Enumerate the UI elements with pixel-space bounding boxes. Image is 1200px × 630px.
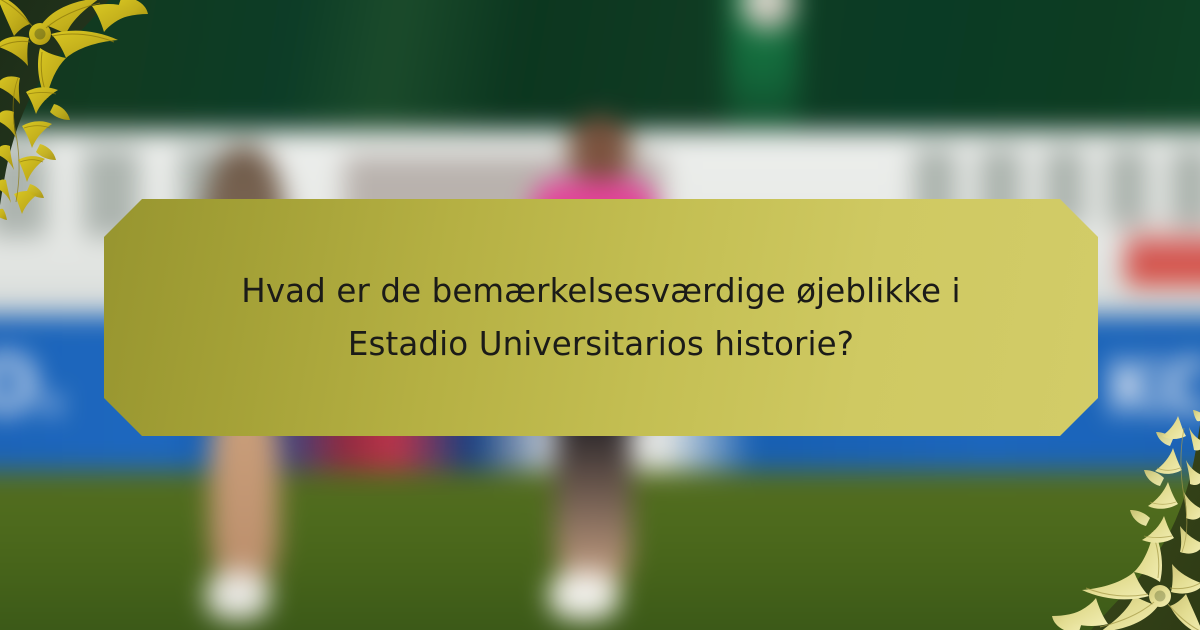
player-right-head — [568, 116, 632, 187]
player-right-boot — [549, 571, 619, 621]
hoarding-letter-b — [0, 148, 47, 237]
hoarding-red-stripe — [1125, 130, 1200, 300]
perimeter-text-o: O. — [0, 341, 67, 431]
perimeter-text-kc: KC — [1106, 345, 1200, 431]
banner-question-text: Hvad er de bemærkelsesværdige øjeblikke … — [221, 265, 981, 370]
player-left-boot — [206, 571, 270, 621]
question-banner: Hvad er de bemærkelsesværdige øjeblikke … — [104, 199, 1098, 436]
poster-card: O. KC Hvad er de bemærkelsesværdige øjeb… — [0, 0, 1200, 630]
